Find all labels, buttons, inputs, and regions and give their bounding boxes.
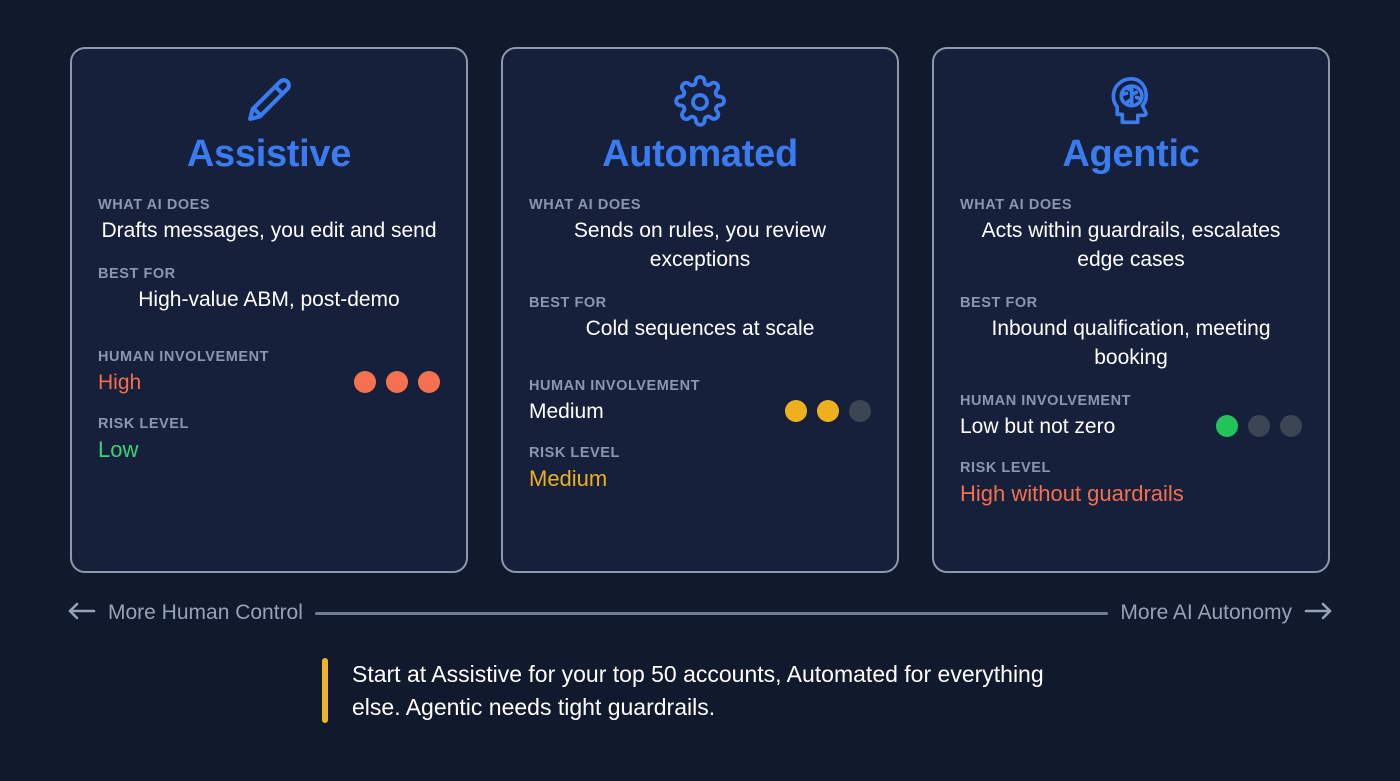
field-risk-level: RISK LEVEL Low: [98, 416, 440, 465]
autonomy-cards-row: Assistive WHAT AI DOES Drafts messages, …: [70, 47, 1330, 573]
involvement-dots: [354, 371, 440, 393]
involvement-dot: [1248, 415, 1270, 437]
involvement-dots: [1216, 415, 1302, 437]
callout-text: Start at Assistive for your top 50 accou…: [352, 658, 1082, 723]
axis-label-right: More AI Autonomy: [1120, 601, 1292, 625]
involvement-value: Medium: [529, 398, 604, 425]
field-label: RISK LEVEL: [98, 416, 440, 432]
field-what-ai-does: WHAT AI DOES Acts within guardrails, esc…: [960, 197, 1302, 275]
field-label: RISK LEVEL: [529, 445, 871, 461]
axis-line: [315, 612, 1109, 615]
involvement-row: Low but not zero: [960, 413, 1302, 440]
field-what-ai-does: WHAT AI DOES Drafts messages, you edit a…: [98, 197, 440, 246]
risk-value: Medium: [529, 465, 871, 494]
field-what-ai-does: WHAT AI DOES Sends on rules, you review …: [529, 197, 871, 275]
involvement-row: Medium: [529, 398, 871, 425]
callout-accent-bar: [322, 658, 328, 723]
card-title: Automated: [529, 135, 871, 175]
field-label: BEST FOR: [960, 295, 1302, 311]
field-label: WHAT AI DOES: [960, 197, 1302, 213]
field-label: WHAT AI DOES: [529, 197, 871, 213]
field-risk-level: RISK LEVEL Medium: [529, 445, 871, 494]
field-label: HUMAN INVOLVEMENT: [529, 378, 871, 394]
card-automated[interactable]: Automated WHAT AI DOES Sends on rules, y…: [501, 47, 899, 573]
involvement-value: High: [98, 369, 141, 396]
field-label: WHAT AI DOES: [98, 197, 440, 213]
arrow-left-icon: [66, 602, 96, 625]
card-title: Agentic: [960, 135, 1302, 175]
field-risk-level: RISK LEVEL High without guardrails: [960, 460, 1302, 509]
arrow-right-icon: [1304, 602, 1334, 625]
field-human-involvement: HUMAN INVOLVEMENT Medium: [529, 378, 871, 425]
field-value: Sends on rules, you review exceptions: [529, 217, 871, 275]
brain-head-icon: [960, 71, 1302, 133]
field-label: HUMAN INVOLVEMENT: [960, 393, 1302, 409]
pencil-icon: [98, 71, 440, 133]
involvement-dot: [785, 400, 807, 422]
involvement-dot: [849, 400, 871, 422]
field-value: Acts within guardrails, escalates edge c…: [960, 217, 1302, 275]
field-value: Inbound qualification, meeting booking: [960, 315, 1302, 373]
field-label: BEST FOR: [529, 295, 871, 311]
field-human-involvement: HUMAN INVOLVEMENT Low but not zero: [960, 393, 1302, 440]
card-agentic[interactable]: Agentic WHAT AI DOES Acts within guardra…: [932, 47, 1330, 573]
gear-icon: [529, 71, 871, 133]
field-best-for: BEST FOR Cold sequences at scale: [529, 295, 871, 344]
field-best-for: BEST FOR Inbound qualification, meeting …: [960, 295, 1302, 373]
involvement-dot: [1280, 415, 1302, 437]
field-best-for: BEST FOR High-value ABM, post-demo: [98, 266, 440, 315]
axis-label-left: More Human Control: [108, 601, 303, 625]
risk-value: High without guardrails: [960, 480, 1302, 509]
involvement-dot: [817, 400, 839, 422]
recommendation-callout: Start at Assistive for your top 50 accou…: [322, 658, 1082, 723]
field-label: BEST FOR: [98, 266, 440, 282]
involvement-value: Low but not zero: [960, 413, 1115, 440]
involvement-dot: [1216, 415, 1238, 437]
field-label: RISK LEVEL: [960, 460, 1302, 476]
involvement-row: High: [98, 369, 440, 396]
field-human-involvement: HUMAN INVOLVEMENT High: [98, 349, 440, 396]
involvement-dot: [386, 371, 408, 393]
infographic-canvas: Assistive WHAT AI DOES Drafts messages, …: [0, 0, 1400, 781]
involvement-dot: [354, 371, 376, 393]
risk-value: Low: [98, 436, 440, 465]
field-label: HUMAN INVOLVEMENT: [98, 349, 440, 365]
card-title: Assistive: [98, 135, 440, 175]
card-assistive[interactable]: Assistive WHAT AI DOES Drafts messages, …: [70, 47, 468, 573]
field-value: High-value ABM, post-demo: [98, 286, 440, 315]
field-value: Drafts messages, you edit and send: [98, 217, 440, 246]
involvement-dot: [418, 371, 440, 393]
spectrum-axis: More Human Control More AI Autonomy: [66, 594, 1334, 632]
involvement-dots: [785, 400, 871, 422]
field-value: Cold sequences at scale: [529, 315, 871, 344]
